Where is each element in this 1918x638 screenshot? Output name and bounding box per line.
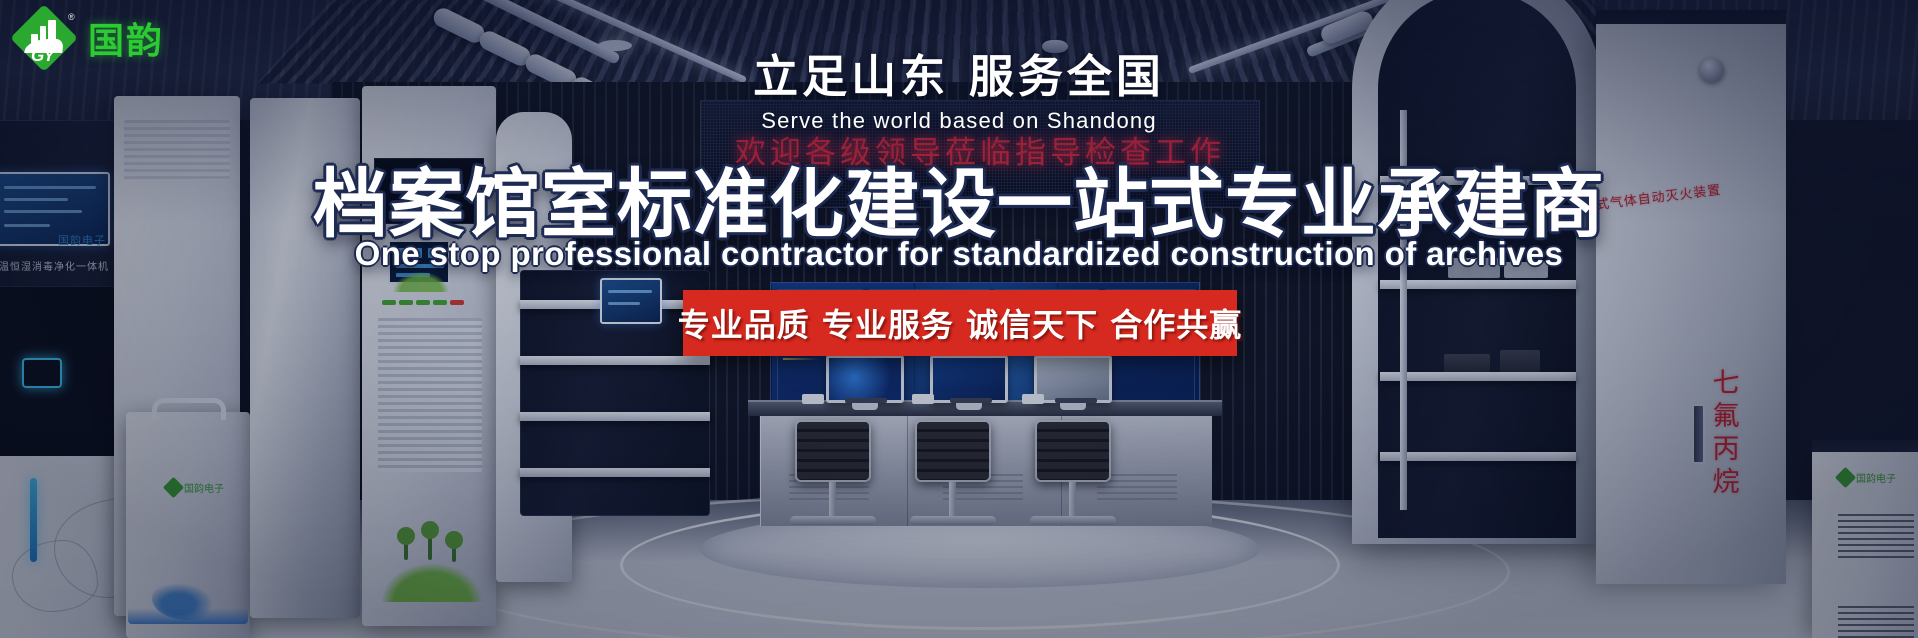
- hero-subtitle-en: One stop professional contractor for sta…: [0, 235, 1918, 273]
- hero-text-overlay: GY ® 国韵 立足山东 服务全国 Serve the world based …: [0, 0, 1918, 638]
- brand-name: 国韵: [88, 12, 164, 64]
- site-logo[interactable]: GY ® 国韵: [12, 6, 164, 70]
- slogan-text: 专业品质 专业服务 诚信天下 合作共赢: [678, 300, 1242, 346]
- gy-diamond-logo-icon: GY ®: [12, 6, 76, 70]
- hero-banner: 欢迎各级领导莅临指导检查工作 档案安全防护排名 档案馆室智能化监控 温湿度监测曲…: [0, 0, 1918, 638]
- hero-kicker-cn: 立足山东 服务全国: [0, 40, 1918, 105]
- slogan-bar: 专业品质 专业服务 诚信天下 合作共赢: [683, 290, 1237, 356]
- logo-initials: GY: [31, 46, 54, 66]
- registered-trademark-icon: ®: [68, 12, 75, 22]
- hero-kicker-en: Serve the world based on Shandong: [0, 108, 1918, 134]
